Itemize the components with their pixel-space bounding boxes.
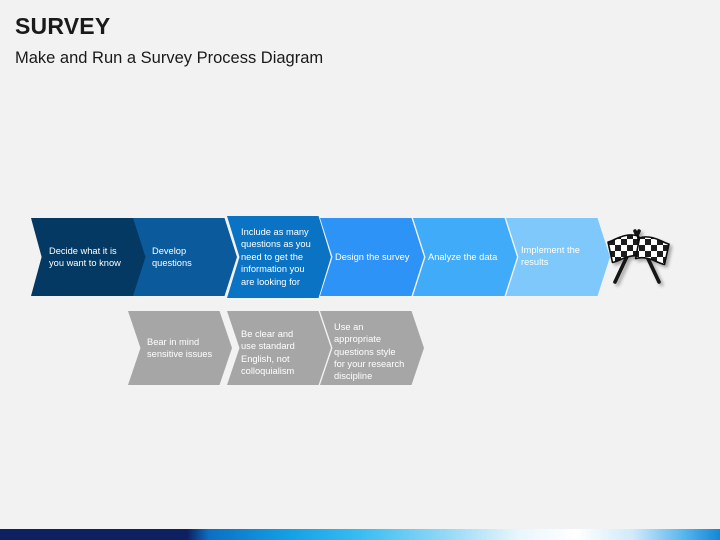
substep-questions-style[interactable]: Use an appropriate questions style for y… (320, 311, 424, 385)
process-diagram: Decide what it is you want to know Devel… (0, 0, 720, 540)
step-label: Implement the results (521, 244, 580, 269)
step-develop-questions[interactable]: Develop questions (133, 218, 237, 296)
substep-label: Be clear and use standard English, not c… (241, 328, 295, 377)
step-label: Include as many questions as you need to… (241, 226, 311, 288)
step-label: Develop questions (152, 245, 192, 270)
substep-sensitive-issues[interactable]: Bear in mind sensitive issues (128, 311, 232, 385)
substep-label: Bear in mind sensitive issues (147, 336, 212, 361)
slide-canvas: SURVEY Make and Run a Survey Process Dia… (0, 0, 720, 540)
step-label: Design the survey (335, 251, 409, 263)
step-analyze-data[interactable]: Analyze the data (413, 218, 517, 296)
step-implement-results[interactable]: Implement the results (506, 218, 610, 296)
footer-gradient-bar (0, 529, 720, 540)
step-label: Analyze the data (428, 251, 497, 263)
substep-standard-english[interactable]: Be clear and use standard English, not c… (227, 311, 331, 385)
step-include-questions[interactable]: Include as many questions as you need to… (227, 216, 331, 298)
substep-label: Use an appropriate questions style for y… (334, 321, 404, 383)
step-design-survey[interactable]: Design the survey (320, 218, 424, 296)
step-decide[interactable]: Decide what it is you want to know (31, 218, 149, 296)
step-label: Decide what it is you want to know (49, 245, 121, 270)
checkered-flags-icon (603, 227, 677, 289)
